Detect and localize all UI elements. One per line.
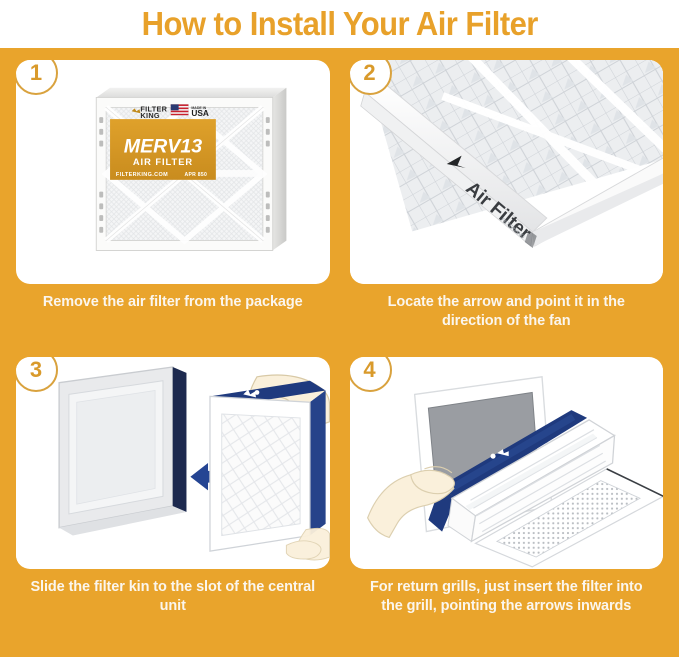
step-1: MERV13 AIR FILTER FILTERKING.COM APR 850… bbox=[16, 60, 330, 357]
step-caption-3: Slide the filter kin to the slot of the … bbox=[16, 569, 330, 616]
central-unit-slot bbox=[59, 367, 186, 536]
air-filter-label-text: AIR FILTER bbox=[133, 157, 193, 167]
step-1-card: MERV13 AIR FILTER FILTERKING.COM APR 850… bbox=[16, 60, 330, 284]
step-4-card: 4 bbox=[350, 357, 664, 569]
return-grill-illustration bbox=[350, 357, 664, 569]
step-3: 3 Slide the filter kin to the slot of th… bbox=[16, 357, 330, 669]
merv-rating-text: MERV13 bbox=[124, 135, 202, 157]
header-bar: How to Install Your Air Filter bbox=[0, 0, 679, 48]
filter-corner-photo: Air Filter FILTERKING bbox=[350, 60, 664, 284]
steps-board: MERV13 AIR FILTER FILTERKING.COM APR 850… bbox=[0, 48, 679, 657]
step-2-card: Air Filter FILTERKING 2 bbox=[350, 60, 664, 284]
step-2: Air Filter FILTERKING 2 Locate the arrow… bbox=[350, 60, 664, 357]
step-3-card: 3 bbox=[16, 357, 330, 569]
page-title: How to Install Your Air Filter bbox=[141, 5, 537, 43]
slide-filter-illustration bbox=[16, 357, 330, 569]
apr-rating-text: APR 850 bbox=[185, 172, 208, 178]
filter-box-photo: MERV13 AIR FILTER FILTERKING.COM APR 850… bbox=[16, 60, 330, 284]
svg-text:USA: USA bbox=[191, 108, 209, 118]
step-caption-2: Locate the arrow and point it in the dir… bbox=[350, 284, 664, 331]
blue-filter bbox=[210, 381, 326, 551]
website-text: FILTERKING.COM bbox=[116, 172, 168, 178]
step-caption-4: For return grills, just insert the filte… bbox=[350, 569, 664, 616]
svg-text:KING: KING bbox=[140, 111, 160, 120]
step-caption-1: Remove the air filter from the package bbox=[16, 284, 330, 312]
step-4: 4 For return grills, just insert the fil… bbox=[350, 357, 664, 669]
